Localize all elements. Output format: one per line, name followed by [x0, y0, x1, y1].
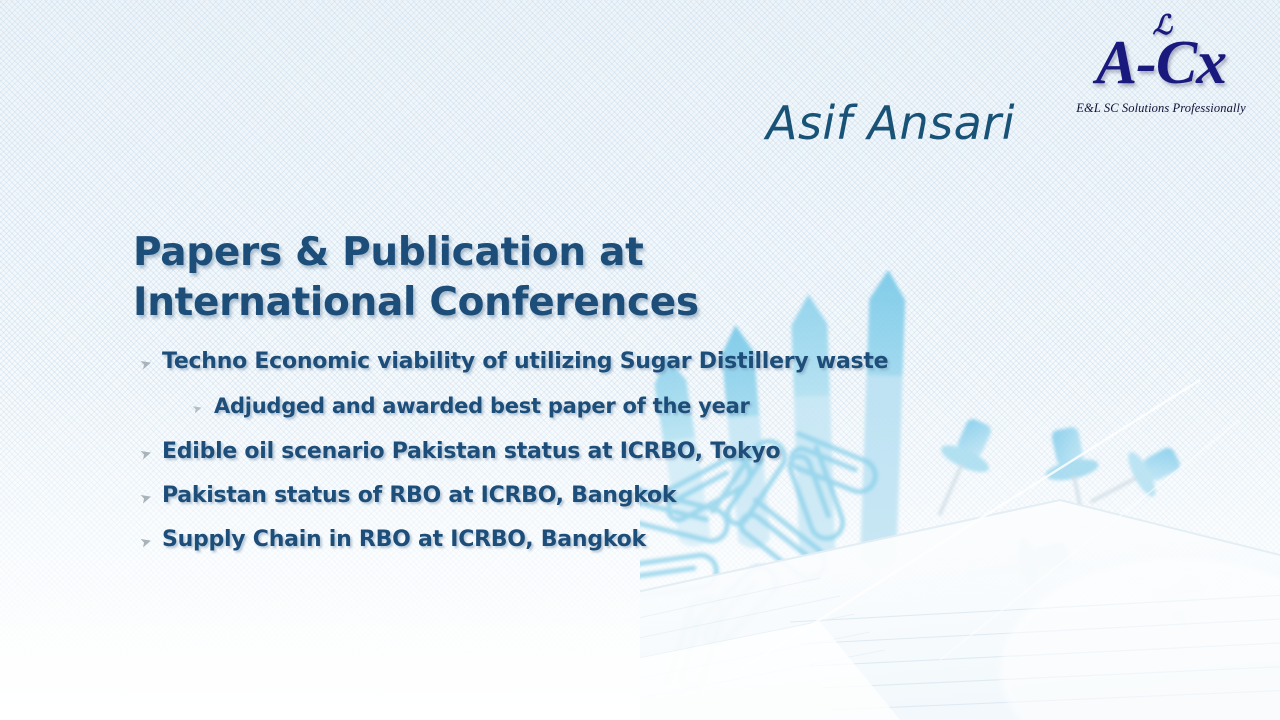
- bullet-list: ➤Techno Economic viability of utilizing …: [140, 348, 1000, 570]
- logo-wordmark: ℒ A-Cx: [1066, 26, 1256, 100]
- company-logo: ℒ A-Cx E&L SC Solutions Professionally: [1066, 26, 1256, 138]
- bullet-text: Pakistan status of RBO at ICRBO, Bangkok: [162, 482, 1000, 510]
- bullet-text: Techno Economic viability of utilizing S…: [162, 348, 1000, 376]
- author-name: Asif Ansari: [0, 96, 1015, 150]
- bullet-item: ➤Supply Chain in RBO at ICRBO, Bangkok: [140, 526, 1000, 554]
- bullet-text: Edible oil scenario Pakistan status at I…: [162, 438, 1000, 466]
- bullet-item: ➤Techno Economic viability of utilizing …: [140, 348, 1000, 376]
- bullet-item: ➤Pakistan status of RBO at ICRBO, Bangko…: [140, 482, 1000, 510]
- bullet-text: Supply Chain in RBO at ICRBO, Bangkok: [162, 526, 1000, 554]
- logo-flourish-icon: ℒ: [1153, 12, 1171, 39]
- bullet-item: ➤Adjudged and awarded best paper of the …: [140, 392, 1000, 420]
- bullet-item: ➤Edible oil scenario Pakistan status at …: [140, 438, 1000, 466]
- logo-tagline: E&L SC Solutions Professionally: [1066, 101, 1256, 116]
- ruled-notepad-secondary: [640, 622, 900, 720]
- slide-title: Papers & Publication at International Co…: [133, 228, 923, 328]
- slide-canvas: ℒ A-Cx E&L SC Solutions Professionally A…: [0, 0, 1280, 720]
- bullet-text: Adjudged and awarded best paper of the y…: [214, 392, 1000, 420]
